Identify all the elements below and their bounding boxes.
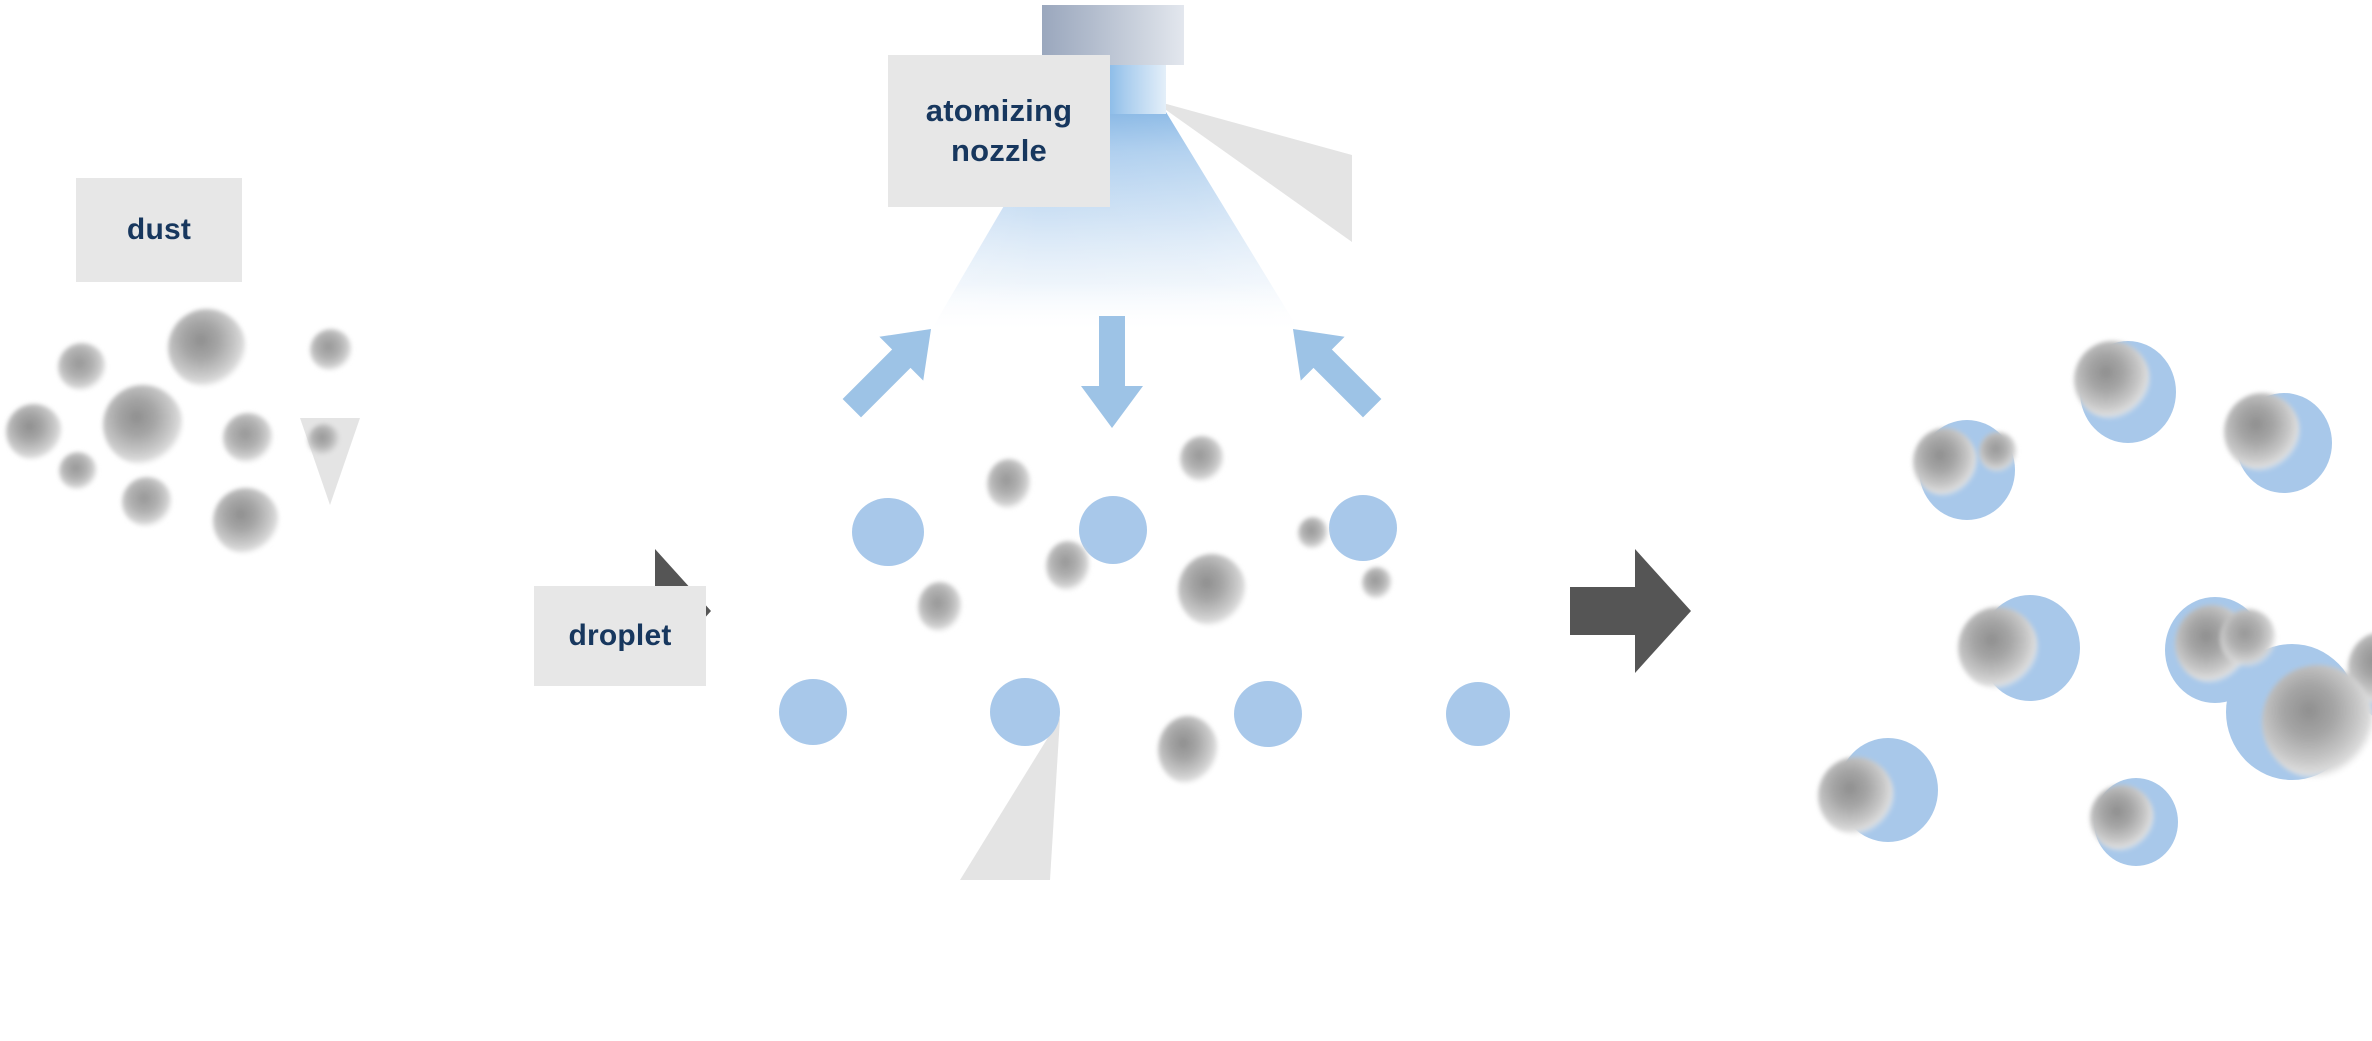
dust-particle bbox=[1158, 716, 1218, 784]
transition-arrows bbox=[590, 549, 1691, 673]
dust-particle bbox=[223, 413, 273, 463]
dust-particle bbox=[2074, 341, 2150, 419]
panel-spray-application bbox=[779, 436, 1510, 784]
dust-particle bbox=[1298, 517, 1328, 549]
callout-label-atomizing-nozzle[interactable]: atomizing nozzle bbox=[888, 55, 1110, 207]
droplet bbox=[1329, 495, 1397, 561]
panel-airborne-dust bbox=[6, 309, 352, 554]
dust-particle bbox=[308, 424, 340, 456]
diagram-canvas: dust atomizing nozzle droplet bbox=[0, 0, 2372, 1041]
dust-particle bbox=[1913, 428, 1977, 496]
dust-particle bbox=[918, 582, 962, 632]
dust-particle bbox=[59, 452, 97, 490]
dust-particle bbox=[310, 329, 352, 371]
callout-nozzle-text-line1: atomizing bbox=[926, 91, 1072, 131]
dust-particle bbox=[2220, 609, 2276, 667]
dust-particle bbox=[58, 343, 106, 391]
dust-particle bbox=[1180, 436, 1224, 482]
dust-particle bbox=[1046, 541, 1090, 591]
dust-particle bbox=[6, 404, 62, 460]
droplet bbox=[1234, 681, 1302, 747]
panel-captured-dust bbox=[1818, 341, 2372, 866]
droplet bbox=[1446, 682, 1510, 746]
dust-particle bbox=[1979, 432, 2017, 472]
spray-arrow-center-icon bbox=[1081, 316, 1143, 428]
dust-particle bbox=[213, 488, 279, 554]
diagram-svg bbox=[0, 0, 2372, 1041]
callout-label-dust[interactable]: dust bbox=[76, 178, 242, 282]
dust-particle bbox=[2224, 393, 2300, 471]
dust-particle bbox=[1958, 607, 2038, 689]
dust-particle bbox=[1178, 554, 1246, 626]
dust-particle bbox=[987, 459, 1031, 509]
callout-nozzle-text-line2: nozzle bbox=[926, 131, 1072, 171]
dust-in-spray bbox=[918, 436, 1392, 784]
spray-direction-arrows bbox=[830, 307, 1394, 430]
droplet bbox=[990, 678, 1060, 746]
dust-particle bbox=[168, 309, 246, 387]
callout-droplet-text: droplet bbox=[568, 617, 671, 655]
droplets bbox=[779, 495, 1510, 747]
dust-particle bbox=[1362, 567, 1392, 599]
callout-label-droplet[interactable]: droplet bbox=[534, 586, 706, 686]
dust-particle bbox=[122, 477, 172, 527]
transition-arrow-2-icon bbox=[1570, 549, 1691, 673]
dust-particle bbox=[2090, 785, 2154, 851]
dust-particle bbox=[103, 385, 183, 465]
callout-dust-text: dust bbox=[127, 211, 191, 249]
dust-particle bbox=[2262, 665, 2372, 779]
droplet bbox=[852, 498, 924, 566]
droplet bbox=[779, 679, 847, 745]
dust-particle bbox=[1818, 757, 1894, 835]
droplet bbox=[1079, 496, 1147, 564]
